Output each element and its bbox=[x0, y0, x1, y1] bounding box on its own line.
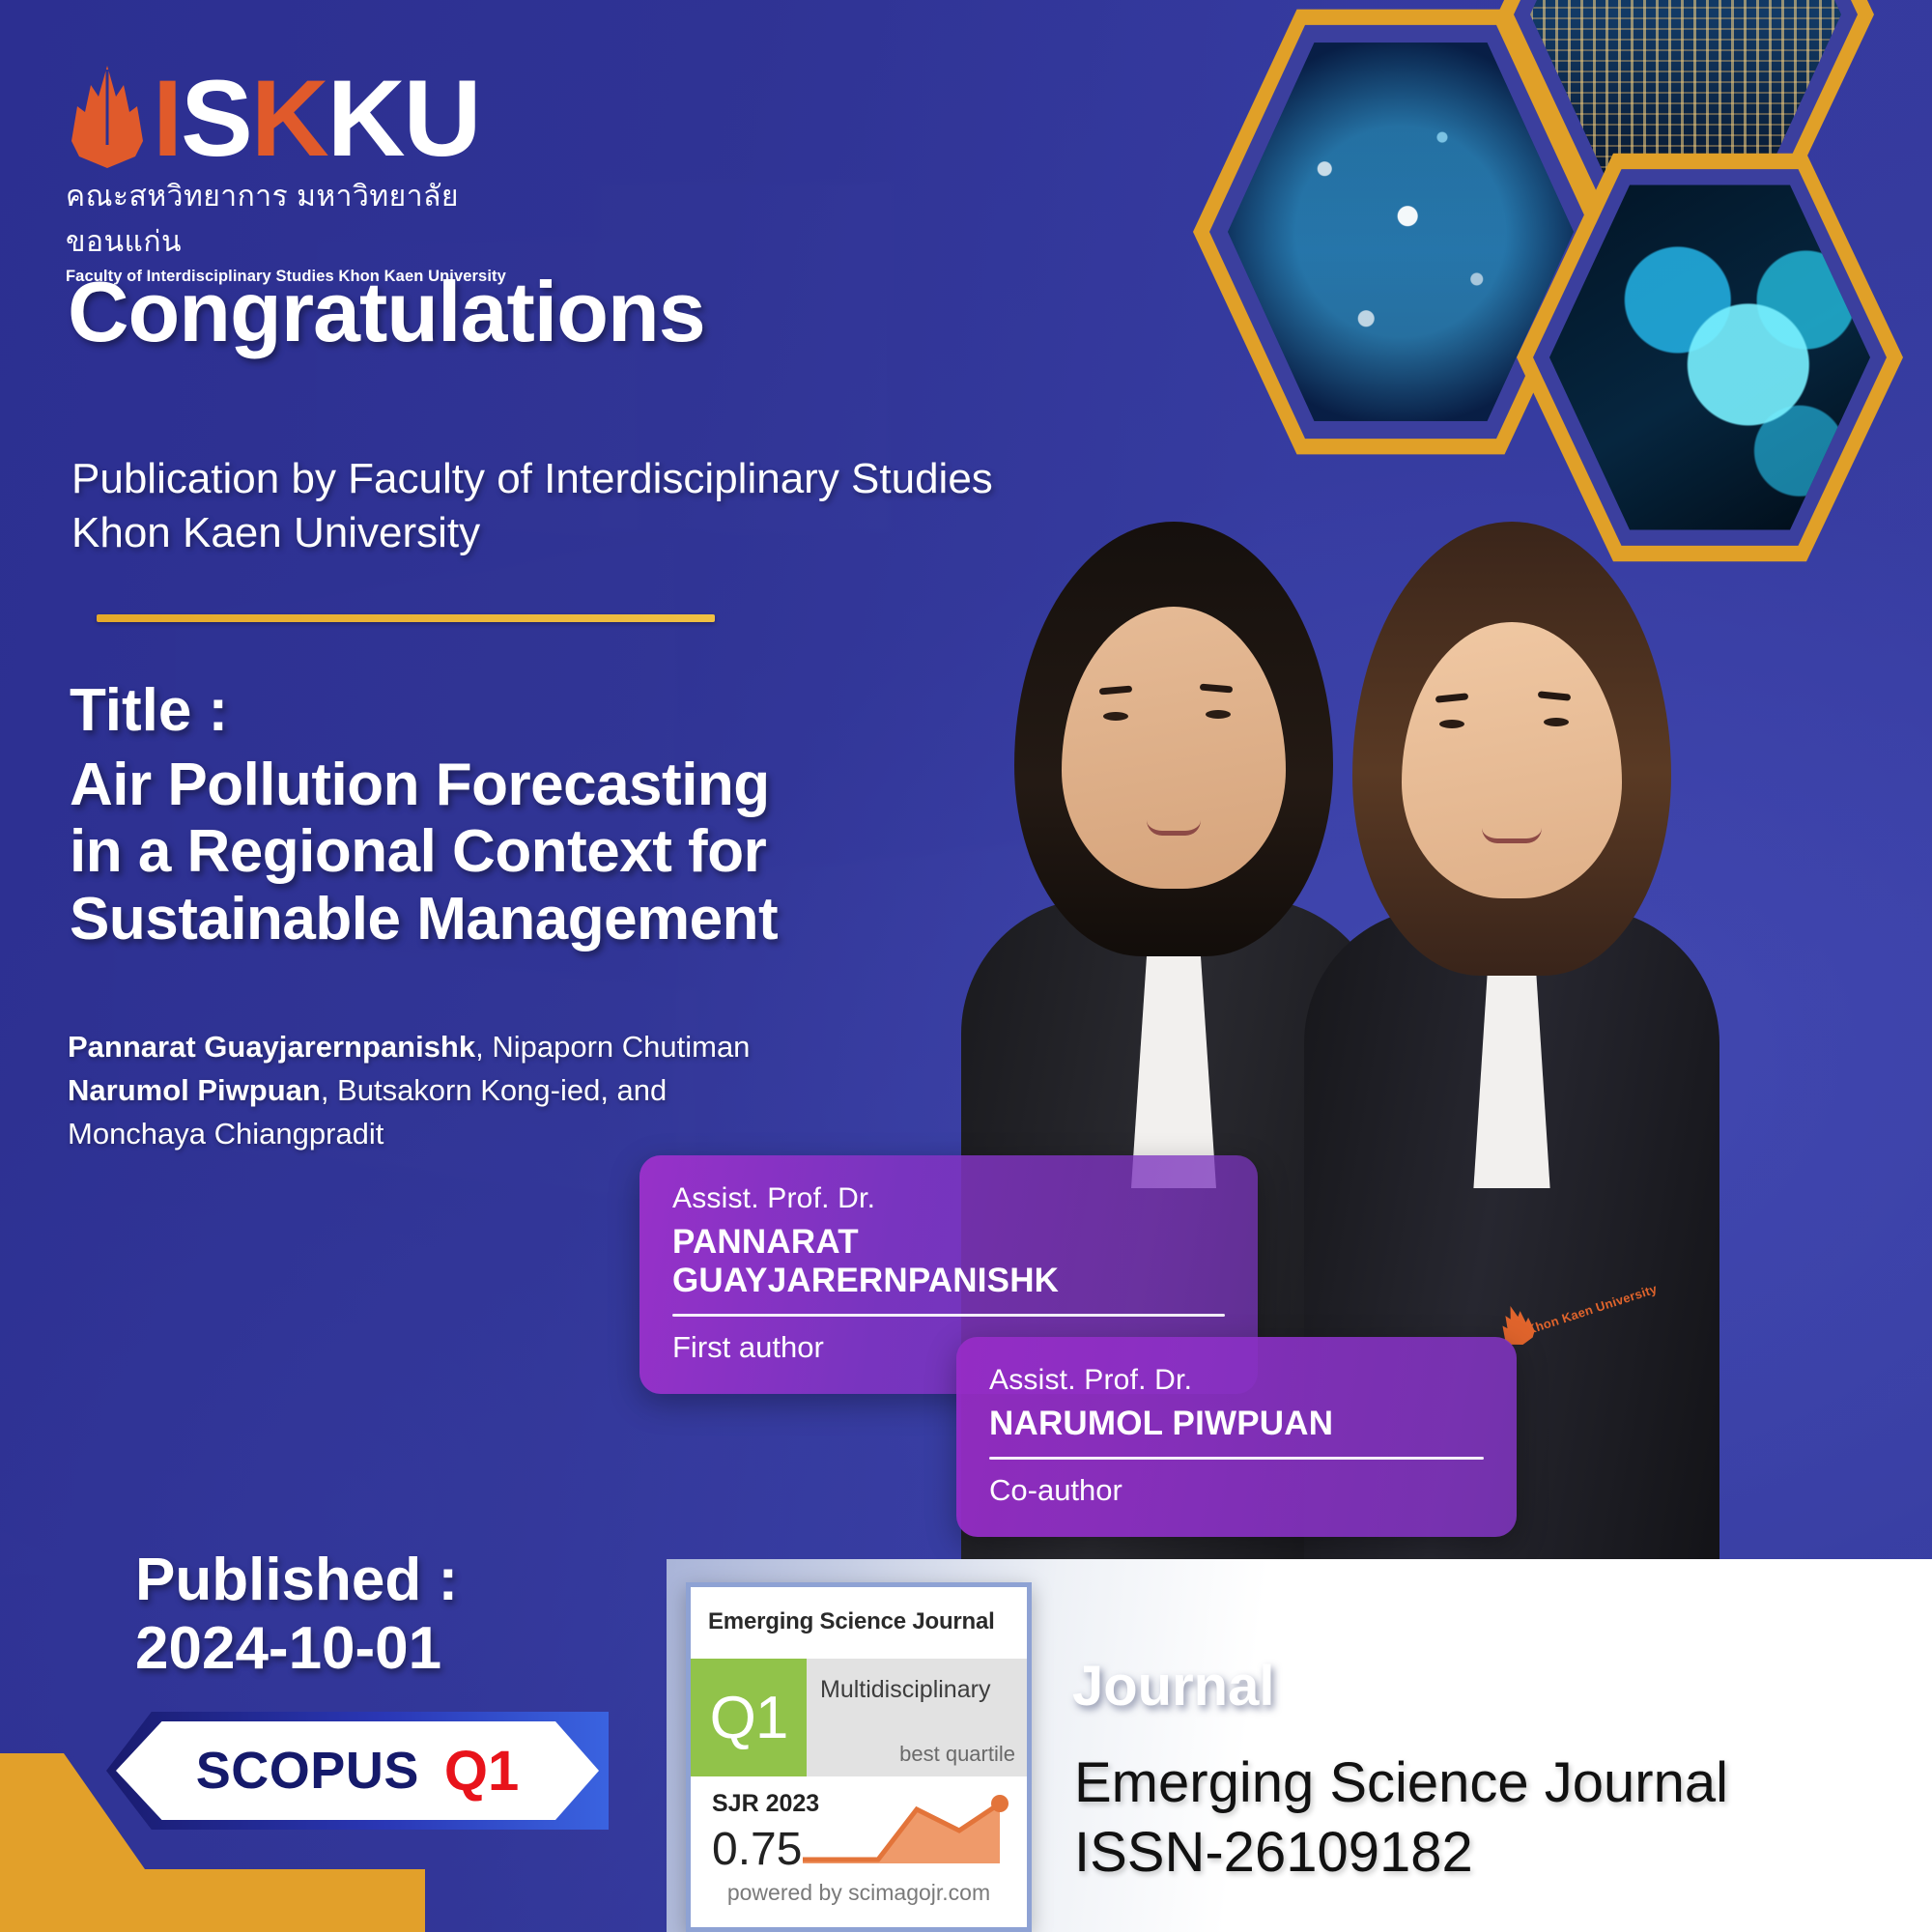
sjr-footer: powered by scimagojr.com bbox=[691, 1880, 1027, 1906]
logo-letter-i: I bbox=[153, 58, 181, 179]
name-card-co-author: Assist. Prof. Dr. NARUMOL PIWPUAN Co-aut… bbox=[956, 1337, 1517, 1537]
subtitle-line-2: Khon Kaen University bbox=[71, 506, 993, 560]
sjr-value: 0.75 bbox=[712, 1823, 802, 1876]
paper-title: Air Pollution Forecasting in a Regional … bbox=[70, 752, 778, 952]
journal-name: Emerging Science Journal bbox=[1074, 1748, 1728, 1818]
journal-details: Emerging Science Journal ISSN-26109182 bbox=[1074, 1748, 1728, 1888]
name-card-role: Co-author bbox=[989, 1473, 1484, 1508]
logo-letter-s: S bbox=[181, 58, 251, 179]
name-card-name: NARUMOL PIWPUAN bbox=[989, 1405, 1484, 1443]
scopus-database-label: SCOPUS bbox=[196, 1741, 419, 1801]
sjr-score-row: SJR 2023 0.75 powered by scimagojr.com bbox=[691, 1776, 1027, 1912]
logo-letter-k1: K bbox=[251, 58, 327, 179]
logo-letter-k2: K bbox=[327, 58, 404, 179]
paper-title-line-1: Air Pollution Forecasting bbox=[70, 752, 778, 818]
journal-issn: ISSN-26109182 bbox=[1074, 1818, 1728, 1888]
sjr-journal-title: Emerging Science Journal bbox=[691, 1587, 1027, 1635]
author-bold-2: Narumol Piwpuan bbox=[68, 1073, 321, 1107]
sjr-category-box: Multidisciplinary best quartile bbox=[807, 1659, 1027, 1776]
sjr-quartile-row: Q1 Multidisciplinary best quartile bbox=[691, 1659, 1027, 1776]
page-title: Congratulations bbox=[68, 263, 705, 361]
paper-title-line-3: Sustainable Management bbox=[70, 886, 778, 952]
journal-label: Journal bbox=[1072, 1654, 1275, 1719]
gold-divider bbox=[97, 614, 715, 622]
sjr-quartile-badge: Q1 bbox=[691, 1659, 807, 1776]
sjr-quartile-caption: best quartile bbox=[899, 1742, 1015, 1767]
logo-thai-name: คณะสหวิทยาการ มหาวิทยาลัยขอนแก่น bbox=[66, 174, 568, 265]
logo-letter-u: U bbox=[404, 58, 480, 179]
published-block: Published : 2024-10-01 bbox=[135, 1546, 458, 1684]
sjr-sparkline-chart bbox=[803, 1794, 1017, 1867]
author-line-1: Pannarat Guayjarernpanishk, Nipaporn Chu… bbox=[68, 1026, 750, 1069]
subtitle-line-1: Publication by Faculty of Interdisciplin… bbox=[71, 452, 993, 506]
author-line-2: Narumol Piwpuan, Butsakorn Kong-ied, and bbox=[68, 1069, 750, 1113]
name-card-rule bbox=[989, 1457, 1484, 1460]
iskku-logo: ISKKU คณะสหวิทยาการ มหาวิทยาลัยขอนแก่น F… bbox=[66, 64, 568, 286]
name-card-prefix: Assist. Prof. Dr. bbox=[672, 1182, 1225, 1215]
name-card-prefix: Assist. Prof. Dr. bbox=[989, 1364, 1484, 1397]
author-line-3: Monchaya Chiangpradit bbox=[68, 1113, 750, 1156]
author-rest-1: , Nipaporn Chutiman bbox=[475, 1030, 750, 1064]
published-label: Published : bbox=[135, 1546, 458, 1614]
subtitle: Publication by Faculty of Interdisciplin… bbox=[71, 452, 993, 561]
sjr-category: Multidisciplinary bbox=[820, 1676, 990, 1704]
author-rest-2: , Butsakorn Kong-ied, and bbox=[321, 1073, 667, 1107]
published-date: 2024-10-01 bbox=[135, 1614, 458, 1683]
author-list: Pannarat Guayjarernpanishk, Nipaporn Chu… bbox=[68, 1026, 750, 1156]
name-card-rule bbox=[672, 1314, 1225, 1317]
congratulations-poster: ISKKU คณะสหวิทยาการ มหาวิทยาลัยขอนแก่น F… bbox=[0, 0, 1932, 1932]
paper-title-line-2: in a Regional Context for bbox=[70, 818, 778, 885]
scopus-quartile-badge[interactable]: SCOPUS Q1 bbox=[106, 1712, 609, 1830]
scimago-widget[interactable]: Emerging Science Journal Q1 Multidiscipl… bbox=[686, 1582, 1032, 1932]
title-label: Title : bbox=[70, 676, 228, 745]
scopus-quartile-label: Q1 bbox=[444, 1739, 519, 1804]
author-bold-1: Pannarat Guayjarernpanishk bbox=[68, 1030, 475, 1064]
name-card-name: PANNARAT GUAYJARERNPANISHK bbox=[672, 1223, 1225, 1300]
khon-kaen-temple-icon bbox=[66, 64, 149, 170]
